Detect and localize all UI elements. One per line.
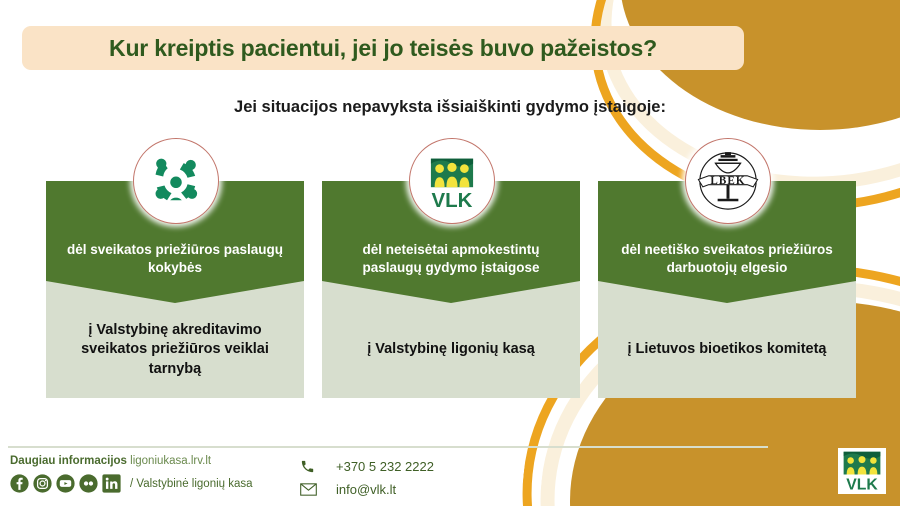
envelope-icon	[300, 481, 322, 499]
svg-text:LBEK: LBEK	[710, 175, 745, 187]
vaspvt-logo-icon	[133, 138, 219, 224]
email-address: info@vlk.lt	[336, 482, 396, 497]
card-reason-text: dėl neetiško sveikatos priežiūros darbuo…	[612, 241, 842, 277]
vlk-brand-logo-icon: VLK	[840, 450, 884, 492]
title-banner: Kur kreiptis pacientui, jei jo teisės bu…	[22, 26, 744, 70]
footer-more-info: Daugiau informacijos ligoniukasa.lrv.lt	[10, 455, 310, 467]
phone-number: +370 5 232 2222	[336, 459, 434, 474]
social-links: / Valstybinė ligonių kasa	[10, 474, 310, 493]
card-destination-text: į Lietuvos bioetikos komitetą	[610, 307, 844, 393]
card-reason-text: dėl sveikatos priežiūros paslaugų kokybė…	[60, 241, 290, 277]
footer-divider	[8, 446, 768, 448]
phone-icon	[300, 458, 322, 476]
lbek-logo-icon: LBEK	[691, 144, 765, 218]
svg-text:VLK: VLK	[846, 476, 878, 492]
card-destination-text: į Valstybinę akreditavimo sveikatos prie…	[58, 307, 292, 393]
page-subtitle: Jei situacijos nepavyksta išsiaiškinti g…	[0, 98, 900, 117]
vlk-logo-icon: VLK	[421, 150, 483, 212]
svg-text:VLK: VLK	[432, 189, 473, 212]
vlk-logo-icon: VLK	[409, 138, 495, 224]
page-title: Kur kreiptis pacientui, jei jo teisės bu…	[109, 35, 657, 62]
instagram-icon[interactable]	[33, 474, 52, 493]
footer-info-block: Daugiau informacijos ligoniukasa.lrv.lt	[10, 455, 310, 493]
card-destination-text: į Valstybinę ligonių kasą	[334, 307, 568, 393]
facebook-icon[interactable]	[10, 474, 29, 493]
footer-contact-block: +370 5 232 2222 info@vlk.lt	[300, 455, 560, 501]
top-right-decoration	[590, 0, 900, 160]
infographic-poster: Kur kreiptis pacientui, jei jo teisės bu…	[0, 0, 900, 506]
youtube-icon[interactable]	[56, 474, 75, 493]
social-handle: / Valstybinė ligonių kasa	[130, 478, 253, 490]
flickr-icon[interactable]	[79, 474, 98, 493]
linkedin-icon[interactable]	[102, 474, 121, 493]
lbek-logo-icon: LBEK	[685, 138, 771, 224]
email-row[interactable]: info@vlk.lt	[300, 478, 560, 501]
website-link[interactable]: ligoniukasa.lrv.lt	[130, 455, 211, 467]
card-reason-text: dėl neteisėtai apmokestintų paslaugų gyd…	[336, 241, 566, 277]
vlk-brand-logo-icon: VLK	[838, 448, 886, 494]
more-info-label: Daugiau informacijos	[10, 455, 127, 467]
vaspvt-logo-icon	[144, 149, 208, 213]
phone-row[interactable]: +370 5 232 2222	[300, 455, 560, 478]
